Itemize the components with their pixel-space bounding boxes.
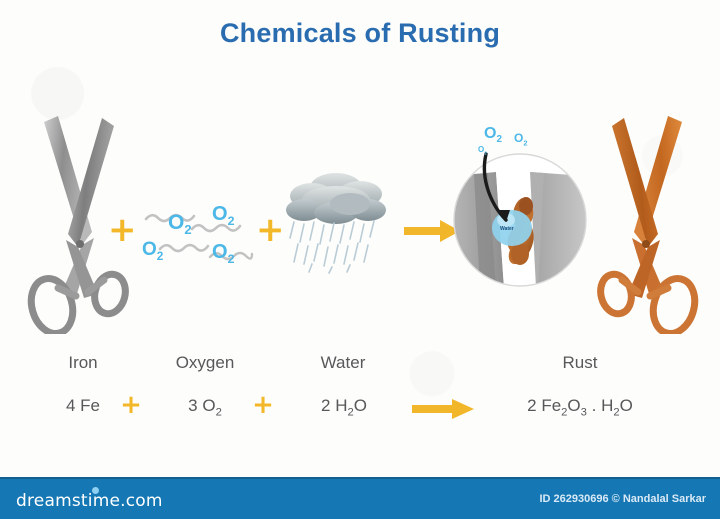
equation-oxygen-sub: 2 [216, 406, 222, 418]
equation-oxygen-text: 3 O [188, 396, 215, 415]
logo-dot-icon [92, 487, 99, 494]
label-iron: Iron [28, 353, 138, 373]
footer-bar: dreamstime.com ID 262930696 © Nandalal S… [0, 477, 720, 519]
equation-plus-1: + [118, 392, 144, 418]
oxygen-molecule-group: O2 O2 O2 O2 [142, 196, 262, 266]
equation-product-mid: O [567, 396, 580, 415]
equation-product: 2 Fe2O3 . H2O [490, 396, 670, 418]
illustration-canvas: Chemicals of Rusting + [0, 0, 720, 519]
magnifier-oxygen-label-2: O2 [514, 132, 527, 147]
label-water: Water [288, 353, 398, 373]
dreamstime-logo[interactable]: dreamstime.com [16, 491, 163, 511]
equation-product-tail: O [620, 396, 633, 415]
equation-product-lead: 2 Fe [527, 396, 561, 415]
rust-scissors-icon [588, 112, 708, 334]
air-squiggle-icon [158, 240, 210, 254]
image-credit: ID 262930696 © Nandalal Sarkar [540, 493, 707, 505]
rust-magnifier: Water [452, 150, 588, 290]
label-rust: Rust [510, 353, 650, 373]
oxygen-label-2: O2 [212, 204, 234, 227]
plus-sign-2: + [256, 213, 285, 247]
water-droplet-label: Water [500, 226, 514, 232]
equation-water-text: 2 H [321, 396, 347, 415]
equation-water: 2 H2O [284, 396, 404, 418]
rain-cloud-icon [284, 168, 388, 274]
magnifier-oxygen-label-3: O2 [478, 146, 487, 158]
equation-water-tail: O [354, 396, 367, 415]
oxygen-label-4: O2 [212, 242, 234, 265]
equation-oxygen: 3 O2 [150, 396, 260, 418]
oxygen-label-3: O2 [142, 240, 163, 263]
page-title: Chemicals of Rusting [0, 18, 720, 49]
equation-iron-text: 4 Fe [66, 396, 100, 415]
equation-product-dot: . H [587, 396, 613, 415]
oxygen-label-1: O2 [168, 212, 192, 236]
equation-arrow [412, 398, 476, 420]
plus-sign-1: + [108, 213, 137, 247]
dreamstime-logo-text: dreamstime.com [16, 491, 163, 511]
magnifier-oxygen-label-1: O2 [484, 126, 502, 145]
label-oxygen: Oxygen [145, 353, 265, 373]
equation-plus-2: + [250, 392, 276, 418]
